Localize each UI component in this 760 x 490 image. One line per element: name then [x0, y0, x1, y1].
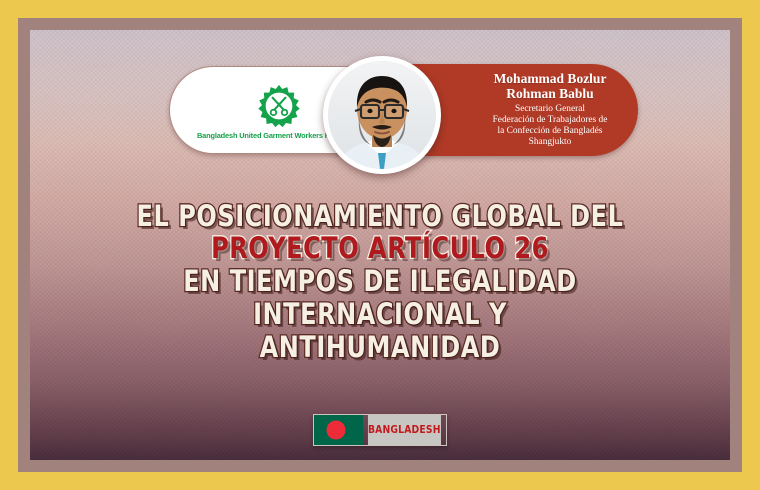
poster-root: Bangladesh United Garment Workers Federa…: [0, 0, 760, 490]
speaker-role: Secretario General: [478, 104, 622, 115]
speaker-name-line1: Mohammad Bozlur: [478, 72, 622, 87]
headline-line-2: PROYECTO ARTÍCULO 26: [58, 234, 702, 263]
poster-canvas: Bangladesh United Garment Workers Federa…: [30, 30, 730, 460]
country-name-label: BANGLADESH: [368, 415, 441, 445]
gear-scissors-logo-icon: [256, 83, 302, 129]
speaker-org-line1: Federación de Trabajadores de: [478, 115, 622, 126]
speaker-org-line3: Shangjukto: [478, 137, 622, 148]
headline-line-1: EL POSICIONAMIENTO GLOBAL DEL: [58, 202, 702, 231]
headline-line-4: INTERNACIONAL Y: [58, 300, 702, 329]
speaker-name-line2: Rohman Bablu: [478, 87, 622, 102]
speaker-org-line2: la Confección de Bangladés: [478, 126, 622, 137]
poster-inner-frame: Bangladesh United Garment Workers Federa…: [18, 18, 742, 472]
speaker-avatar: [323, 56, 441, 174]
speaker-name: Mohammad Bozlur Rohman Bablu: [478, 72, 622, 101]
headline-line-5: ANTIHUMANIDAD: [58, 333, 702, 362]
headline-block: EL POSICIONAMIENTO GLOBAL DEL PROYECTO A…: [30, 202, 730, 362]
country-badge: BANGLADESH: [313, 414, 447, 446]
header-band: Bangladesh United Garment Workers Federa…: [30, 50, 730, 166]
headline-line-3: EN TIEMPOS DE ILEGALIDAD: [58, 267, 702, 296]
flag-disc: [326, 421, 345, 440]
speaker-portrait-photo: [328, 61, 436, 169]
bangladesh-flag-icon: [314, 415, 363, 445]
